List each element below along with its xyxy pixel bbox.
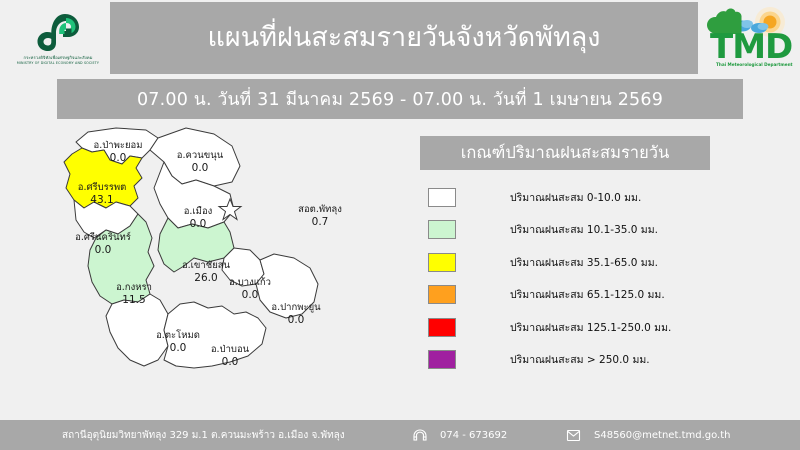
legend-item: ปริมาณฝนสะสม 65.1-125.0 มม. xyxy=(420,282,780,308)
station-label-phatthalung: สอต.พัทลุง 0.7 xyxy=(298,204,342,229)
legend-label-0-10: ปริมาณฝนสะสม 0-10.0 มม. xyxy=(510,189,641,206)
page-title: แผนที่ฝนสะสมรายวันจังหวัดพัทลุง xyxy=(208,23,601,53)
tmd-subtitle: Thai Meteorological Department xyxy=(716,62,793,67)
legend-item: ปริมาณฝนสะสม 125.1-250.0 มม. xyxy=(420,314,780,340)
page-header: กระทรวงดิจิทัลเพื่อเศรษฐกิจและสังคม MINI… xyxy=(0,0,800,76)
district-label-tamot: อ.ตะโหมด 0.0 xyxy=(156,330,200,355)
rainfall-map-page: กระทรวงดิจิทัลเพื่อเศรษฐกิจและสังคม MINI… xyxy=(0,0,800,450)
legend-item: ปริมาณฝนสะสม > 250.0 มม. xyxy=(420,347,780,373)
ministry-name-english: MINISTRY OF DIGITAL ECONOMY AND SOCIETY xyxy=(17,61,99,65)
legend-swatch-35-65 xyxy=(428,253,456,272)
district-label-mueang: อ.เมือง 0.0 xyxy=(184,206,213,231)
district-label-khao-chaison: อ.เขาชัยสน 26.0 xyxy=(182,260,230,285)
province-map: อ.ป่าพะยอม 0.0 อ.ควนขนุน 0.0 อ.ศรีบรรพต … xyxy=(18,122,410,418)
district-label-bang-kaeo: อ.บางแก้ว 0.0 xyxy=(229,277,271,302)
svg-text:TMD: TMD xyxy=(710,27,792,67)
legend-swatch-10-35 xyxy=(428,220,456,239)
district-label-kong-ra: อ.กงหรา 11.5 xyxy=(116,282,152,307)
legend-header: เกณฑ์ปริมาณฝนสะสมรายวัน xyxy=(420,136,710,170)
legend-label-125-250: ปริมาณฝนสะสม 125.1-250.0 มม. xyxy=(510,319,671,336)
date-range-text: 07.00 น. วันที่ 31 มีนาคม 2569 - 07.00 น… xyxy=(137,85,663,113)
ministry-name-thai: กระทรวงดิจิทัลเพื่อเศรษฐกิจและสังคม xyxy=(23,54,92,61)
date-range-bar: 07.00 น. วันที่ 31 มีนาคม 2569 - 07.00 น… xyxy=(57,79,743,119)
footer-phone: 074 - 673692 xyxy=(440,430,507,441)
footer-address: สถานีอุตุนิยมวิทยาพัทลุง 329 ม.1 ต.ควนมะ… xyxy=(62,428,345,443)
legend-list: ปริมาณฝนสะสม 0-10.0 มม. ปริมาณฝนสะสม 10.… xyxy=(420,184,780,373)
ministry-logo: กระทรวงดิจิทัลเพื่อเศรษฐกิจและสังคม MINI… xyxy=(8,4,108,72)
page-footer: สถานีอุตุนิยมวิทยาพัทลุง 329 ม.1 ต.ควนมะ… xyxy=(0,420,800,450)
legend-label-65-125: ปริมาณฝนสะสม 65.1-125.0 มม. xyxy=(510,286,665,303)
footer-email: S48560@metnet.tmd.go.th xyxy=(594,430,730,441)
legend-title: เกณฑ์ปริมาณฝนสะสมรายวัน xyxy=(461,140,670,166)
legend-swatch-0-10 xyxy=(428,188,456,207)
district-label-pa-phayom: อ.ป่าพะยอม 0.0 xyxy=(94,140,143,165)
legend-swatch-65-125 xyxy=(428,285,456,304)
legend-label-10-35: ปริมาณฝนสะสม 10.1-35.0 มม. xyxy=(510,221,658,238)
district-label-khuan-khanun: อ.ควนขนุน 0.0 xyxy=(177,150,223,175)
ministry-emblem-icon xyxy=(35,12,81,52)
legend-label-over-250: ปริมาณฝนสะสม > 250.0 มม. xyxy=(510,351,650,368)
phone-icon xyxy=(412,427,428,443)
legend-label-35-65: ปริมาณฝนสะสม 35.1-65.0 มม. xyxy=(510,254,658,271)
legend-swatch-over-250 xyxy=(428,350,456,369)
legend-item: ปริมาณฝนสะสม 10.1-35.0 มม. xyxy=(420,217,780,243)
district-label-srinagarindra: อ.ศรีนครินทร์ 0.0 xyxy=(75,232,131,257)
tmd-logo: TMD Thai Meteorological Department xyxy=(702,4,794,70)
legend-item: ปริมาณฝนสะสม 0-10.0 มม. xyxy=(420,184,780,210)
district-label-pak-phayun: อ.ปากพะยูน 0.0 xyxy=(271,302,320,327)
legend-item: ปริมาณฝนสะสม 35.1-65.0 มม. xyxy=(420,249,780,275)
district-label-si-banphot: อ.ศรีบรรพต 43.1 xyxy=(78,182,127,207)
district-label-pa-bon: อ.ป่าบอน 0.0 xyxy=(211,344,249,369)
legend-swatch-125-250 xyxy=(428,318,456,337)
legend-panel: เกณฑ์ปริมาณฝนสะสมรายวัน ปริมาณฝนสะสม 0-1… xyxy=(420,136,780,379)
title-bar: แผนที่ฝนสะสมรายวันจังหวัดพัทลุง xyxy=(110,2,698,74)
tmd-wordmark: TMD xyxy=(710,27,792,67)
envelope-icon xyxy=(566,428,581,443)
